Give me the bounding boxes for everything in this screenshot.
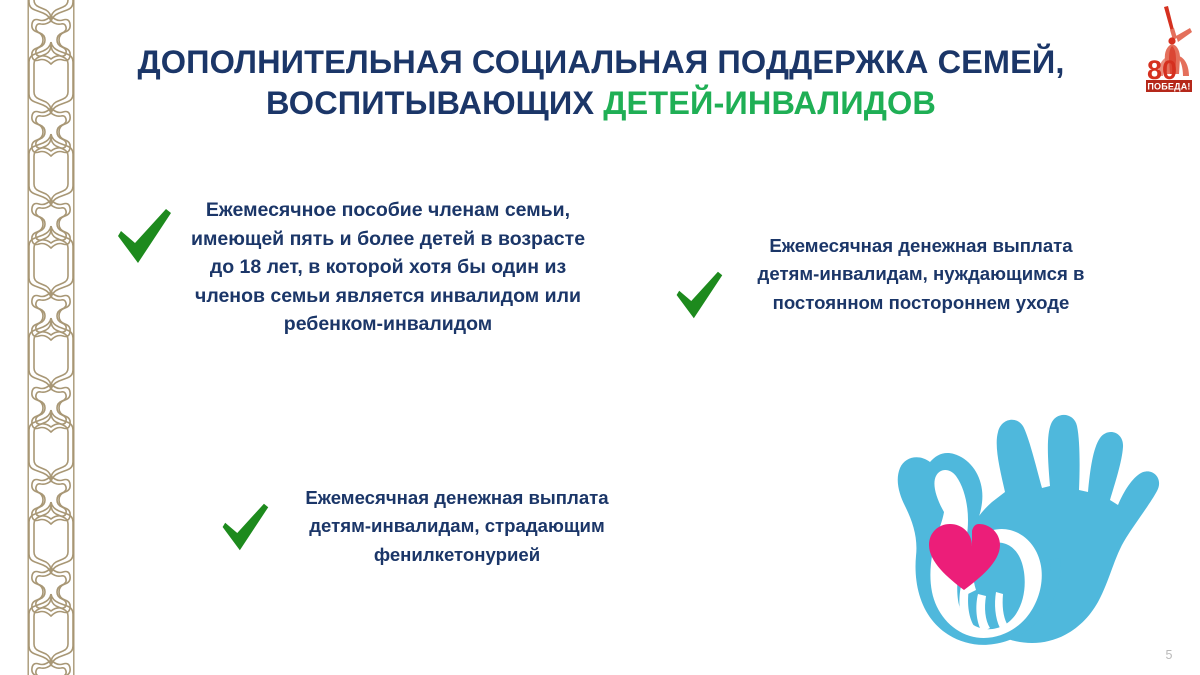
green-check-icon (108, 200, 180, 272)
green-check-icon (214, 496, 276, 558)
bullet-item-3: Ежемесячная денежная выплата детям-инвал… (214, 484, 664, 569)
hands-heart-icon (874, 410, 1174, 668)
title-line-2-prefix: ВОСПИТЫВАЮЩИХ (266, 85, 603, 121)
check-glyph (214, 496, 276, 558)
bullet-text-2: Ежемесячная денежная выплата детям-инвал… (736, 232, 1106, 317)
check-glyph (668, 264, 730, 326)
title-line-2-highlight: ДЕТЕЙ-ИНВАЛИДОВ (603, 85, 936, 121)
two-hands-with-heart-illustration (874, 410, 1174, 668)
page-number: 5 (1158, 648, 1180, 662)
slide-canvas: ДОПОЛНИТЕЛЬНАЯ СОЦИАЛЬНАЯ ПОДДЕРЖКА СЕМЕ… (0, 0, 1200, 675)
page-title: ДОПОЛНИТЕЛЬНАЯ СОЦИАЛЬНАЯ ПОДДЕРЖКА СЕМЕ… (96, 42, 1106, 124)
title-line-2: ВОСПИТЫВАЮЩИХ ДЕТЕЙ-ИНВАЛИДОВ (96, 83, 1106, 124)
victory-80-emblem-logo: 80 ПОБЕДА! (1143, 4, 1195, 94)
left-decorative-border (26, 0, 76, 675)
bullet-text-1: Ежемесячное пособие членам семьи, имеюще… (188, 196, 588, 339)
bullet-text-3: Ежемесячная денежная выплата детям-инвал… (282, 484, 632, 569)
ornament-pattern-icon (26, 0, 76, 675)
bullet-item-2: Ежемесячная денежная выплата детям-инвал… (668, 232, 1138, 326)
victory-80-icon: 80 ПОБЕДА! (1143, 4, 1195, 94)
bullet-item-1: Ежемесячное пособие членам семьи, имеюще… (108, 196, 608, 339)
green-check-icon (668, 264, 730, 326)
logo-caption: ПОБЕДА! (1147, 82, 1190, 92)
title-line-1: ДОПОЛНИТЕЛЬНАЯ СОЦИАЛЬНАЯ ПОДДЕРЖКА СЕМЕ… (96, 42, 1106, 83)
check-glyph (108, 200, 180, 272)
